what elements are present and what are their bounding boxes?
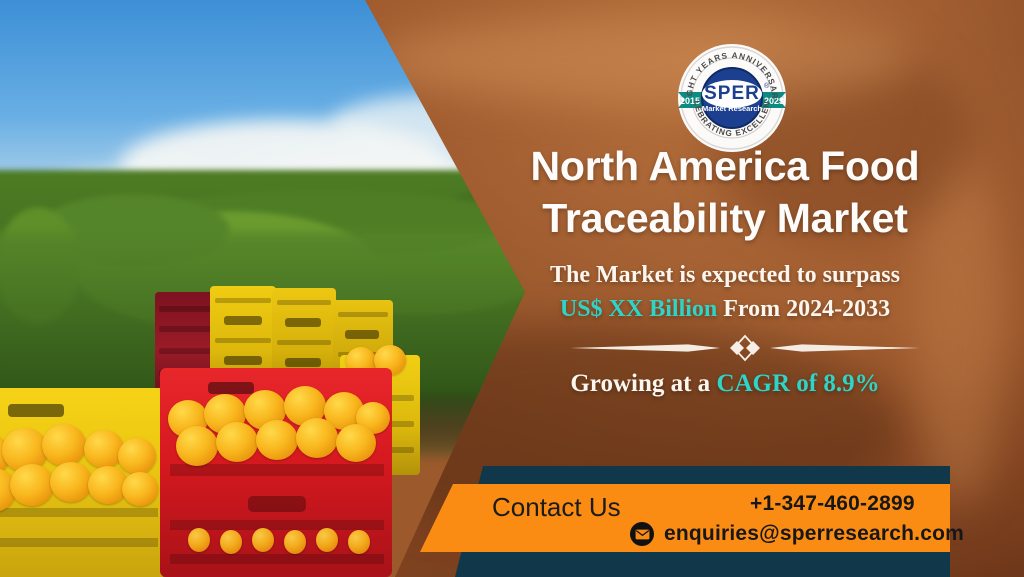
- contact-phone[interactable]: +1-347-460-2899: [750, 492, 915, 516]
- title-line-2: Traceability Market: [455, 192, 995, 244]
- svg-text:Market Research: Market Research: [702, 104, 762, 113]
- sper-logo: 2015 2023 SPER Market Research ® EIGHT Y…: [676, 42, 788, 154]
- subheadline-line-2: US$ XX Billion From 2024-2033: [455, 292, 995, 326]
- svg-text:SPER: SPER: [704, 83, 760, 104]
- contact-email: enquiries@sperresearch.com: [664, 522, 964, 546]
- envelope-icon: [630, 522, 654, 546]
- title-line-1: North America Food: [455, 140, 995, 192]
- banner-title: North America Food Traceability Market: [455, 140, 995, 245]
- cagr-highlight: CAGR of 8.9%: [716, 370, 879, 397]
- banner-subheadline: The Market is expected to surpass US$ XX…: [455, 258, 995, 326]
- contact-us-label: Contact Us: [492, 492, 621, 523]
- yellow-crate: [0, 388, 165, 577]
- market-value-highlight: US$ XX Billion: [560, 296, 717, 322]
- cagr-statement: Growing at a CAGR of 8.9%: [455, 370, 995, 398]
- red-crate: [160, 368, 392, 577]
- marketing-banner: 2015 2023 SPER Market Research ® EIGHT Y…: [0, 0, 1024, 577]
- cagr-prefix: Growing at a: [570, 370, 716, 397]
- market-period: From 2024-2033: [717, 296, 890, 322]
- ornamental-divider: [570, 332, 920, 364]
- subheadline-line-1: The Market is expected to surpass: [455, 258, 995, 292]
- contact-email-row[interactable]: enquiries@sperresearch.com: [630, 522, 964, 546]
